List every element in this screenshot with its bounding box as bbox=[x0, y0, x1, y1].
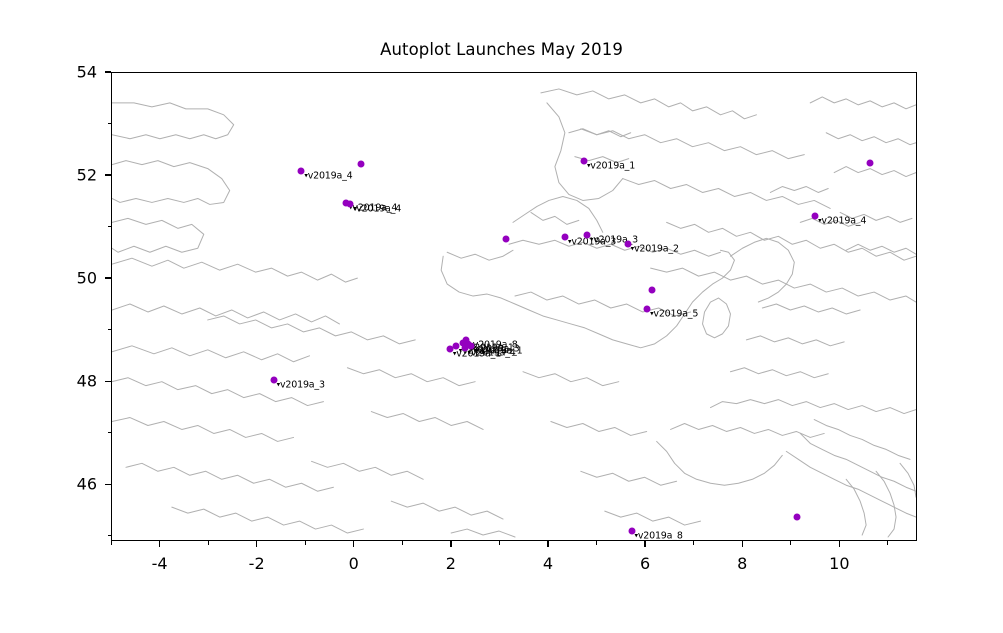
x-axis-tick-label: 4 bbox=[543, 554, 553, 573]
x-axis-minor-tick bbox=[887, 541, 888, 545]
page-title: Autoplot Launches May 2019 bbox=[0, 40, 1003, 59]
figure-canvas: Autoplot Launches May 2019 bbox=[0, 0, 1003, 633]
x-axis-minor-tick bbox=[596, 541, 597, 545]
data-point-label: v2019a_2 bbox=[631, 244, 679, 255]
x-axis-tick bbox=[839, 541, 840, 547]
y-axis-tick-label: 48 bbox=[65, 372, 97, 391]
x-axis-tick-label: 8 bbox=[737, 554, 747, 573]
y-axis-tick bbox=[105, 381, 111, 382]
x-axis-tick-label: 6 bbox=[640, 554, 650, 573]
data-point-label: v2019a_4 bbox=[304, 170, 352, 181]
x-axis-tick-label: 10 bbox=[829, 554, 849, 573]
x-axis-tick bbox=[547, 541, 548, 547]
data-point-label: v2019a_4 bbox=[468, 348, 516, 359]
x-axis-tick-label: 2 bbox=[446, 554, 456, 573]
map-plot-area[interactable]: v2019a_4v2019a_4v2019a_4v2019a_3v2019a_1… bbox=[111, 72, 917, 541]
data-point-label: v2019a_5 bbox=[650, 309, 698, 320]
data-point-marker[interactable] bbox=[793, 514, 800, 521]
y-axis-tick bbox=[105, 277, 111, 278]
y-axis-minor-tick bbox=[108, 432, 112, 433]
y-axis-minor-tick bbox=[108, 329, 112, 330]
data-point-marker[interactable] bbox=[357, 161, 364, 168]
x-axis-tick-label: -4 bbox=[152, 554, 168, 573]
y-axis-tick-label: 46 bbox=[65, 475, 97, 494]
y-axis-minor-tick bbox=[108, 123, 112, 124]
data-point-label: v2019a_8 bbox=[635, 530, 683, 541]
x-axis-tick bbox=[644, 541, 645, 547]
x-axis-tick bbox=[256, 541, 257, 547]
y-axis-tick bbox=[105, 174, 111, 175]
x-axis-tick bbox=[742, 541, 743, 547]
x-axis-minor-tick bbox=[111, 541, 112, 545]
data-point-marker[interactable] bbox=[648, 287, 655, 294]
x-axis-minor-tick bbox=[693, 541, 694, 545]
y-axis-tick-label: 54 bbox=[65, 63, 97, 82]
x-axis-minor-tick bbox=[499, 541, 500, 545]
y-axis-tick-label: 50 bbox=[65, 269, 97, 288]
data-point-label: v2019a_3 bbox=[277, 379, 325, 390]
data-point-label: v2019a_4 bbox=[818, 216, 866, 227]
x-axis-minor-tick bbox=[208, 541, 209, 545]
y-axis-tick-label: 52 bbox=[65, 166, 97, 185]
x-axis-tick-label: 0 bbox=[349, 554, 359, 573]
x-axis-tick-label: -2 bbox=[249, 554, 265, 573]
y-axis-minor-tick bbox=[108, 226, 112, 227]
x-axis-minor-tick bbox=[790, 541, 791, 545]
coastline-map bbox=[112, 73, 916, 540]
x-axis-tick bbox=[353, 541, 354, 547]
y-axis-tick bbox=[105, 484, 111, 485]
x-axis-minor-tick bbox=[305, 541, 306, 545]
x-axis-tick bbox=[450, 541, 451, 547]
y-axis-tick bbox=[105, 71, 111, 72]
x-axis-minor-tick bbox=[402, 541, 403, 545]
data-point-marker[interactable] bbox=[503, 235, 510, 242]
y-axis-minor-tick bbox=[108, 535, 112, 536]
data-point-marker[interactable] bbox=[867, 160, 874, 167]
x-axis-tick bbox=[159, 541, 160, 547]
data-point-label: v2019a_1 bbox=[587, 160, 635, 171]
data-point-label: v2019a_4 bbox=[353, 203, 401, 214]
